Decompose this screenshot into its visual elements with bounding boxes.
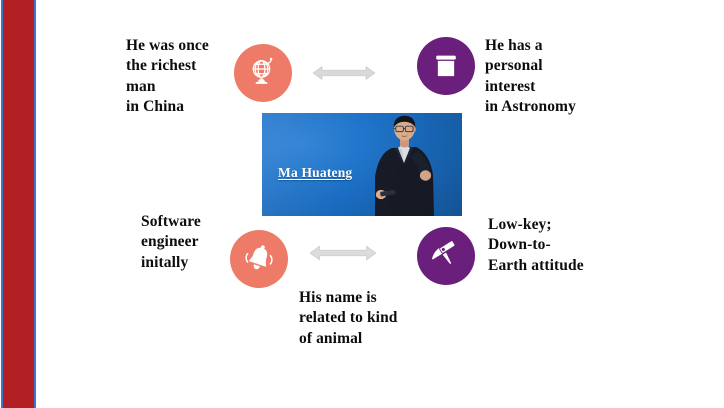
fact-icon-badge-software-engineer <box>230 230 288 288</box>
fact-label-astronomy: He has a personal interest in Astronomy <box>485 36 613 118</box>
book-icon <box>431 51 461 81</box>
fact-icon-badge-low-key <box>417 227 475 285</box>
pocket-knife-icon <box>429 239 463 273</box>
slide-canvas: He was once the richest man in China <box>0 0 724 408</box>
fact-label-richest-man: He was once the richest man in China <box>126 36 238 118</box>
double-arrow-horizontal-icon <box>310 249 376 266</box>
connector-arrow-bottom <box>310 244 376 267</box>
accent-band <box>3 0 34 408</box>
connector-arrow-top <box>313 64 375 87</box>
accent-band-right-edge <box>34 0 36 408</box>
globe-icon <box>246 56 280 90</box>
double-arrow-horizontal-icon <box>313 69 375 86</box>
fact-icon-badge-richest-man <box>234 44 292 102</box>
fact-label-software-engineer: Software engineer initally <box>141 212 241 273</box>
fact-icon-badge-astronomy <box>417 37 475 95</box>
photo-caption: Ma Huateng <box>278 165 352 181</box>
fact-label-low-key: Low-key; Down-to- Earth attitude <box>488 215 618 276</box>
center-photo: Ma Huateng <box>262 113 462 216</box>
bell-icon <box>242 242 276 276</box>
fact-label-name-animal: His name is related to kind of animal <box>299 288 434 349</box>
